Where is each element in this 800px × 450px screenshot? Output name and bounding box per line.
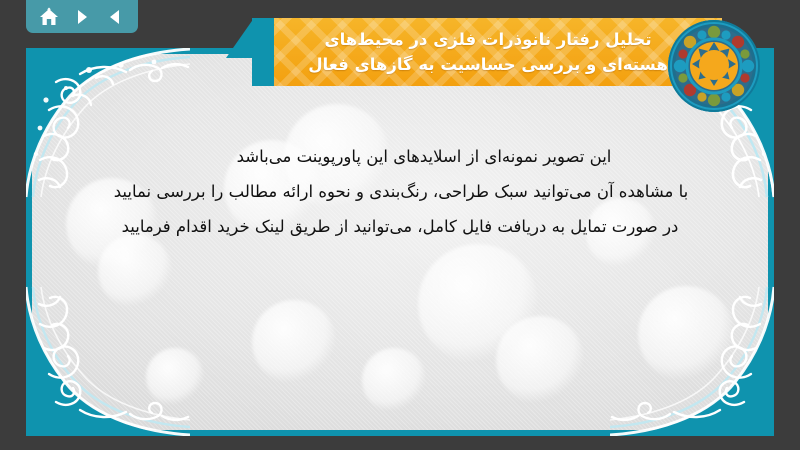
- frame-edge-left: [26, 48, 32, 436]
- bokeh-circle: [98, 234, 172, 308]
- bokeh-circle: [146, 348, 204, 406]
- bokeh-circle: [496, 316, 584, 404]
- title-line-2: هسته‌ای و بررسی حساسیت به گازهای فعال: [308, 53, 668, 76]
- persian-medallion-ornament: [666, 18, 762, 114]
- bokeh-circle: [638, 286, 734, 382]
- previous-button[interactable]: [102, 4, 128, 30]
- title-banner: تحلیل رفتار نانوذرات فلزی در محیط‌های هس…: [274, 18, 722, 86]
- body-line-1: این تصویر نمونه‌ای از اسلایدهای این پاور…: [86, 140, 714, 175]
- triangle-left-icon: [106, 8, 124, 26]
- triangle-right-icon: [73, 8, 91, 26]
- home-icon: [39, 7, 59, 27]
- banner-tab: [252, 18, 276, 86]
- body-line-2: با مشاهده آن می‌توانید سبک طراحی، رنگ‌بن…: [86, 175, 714, 210]
- slide-root: این تصویر نمونه‌ای از اسلایدهای این پاور…: [0, 0, 800, 450]
- title-line-1: تحلیل رفتار نانوذرات فلزی در محیط‌های: [324, 28, 651, 51]
- home-button[interactable]: [36, 4, 62, 30]
- next-button[interactable]: [69, 4, 95, 30]
- bokeh-circle: [362, 348, 426, 412]
- bokeh-circle: [252, 300, 336, 384]
- frame-edge-bottom: [26, 430, 774, 436]
- slide-body-text: این تصویر نمونه‌ای از اسلایدهای این پاور…: [86, 140, 714, 245]
- navigation-bar: [26, 0, 138, 33]
- slide-canvas: این تصویر نمونه‌ای از اسلایدهای این پاور…: [26, 48, 774, 436]
- body-line-3: در صورت تمایل به دریافت فایل کامل، می‌تو…: [86, 210, 714, 245]
- frame-edge-right: [768, 48, 774, 436]
- slide-title: تحلیل رفتار نانوذرات فلزی در محیط‌های هس…: [274, 18, 722, 86]
